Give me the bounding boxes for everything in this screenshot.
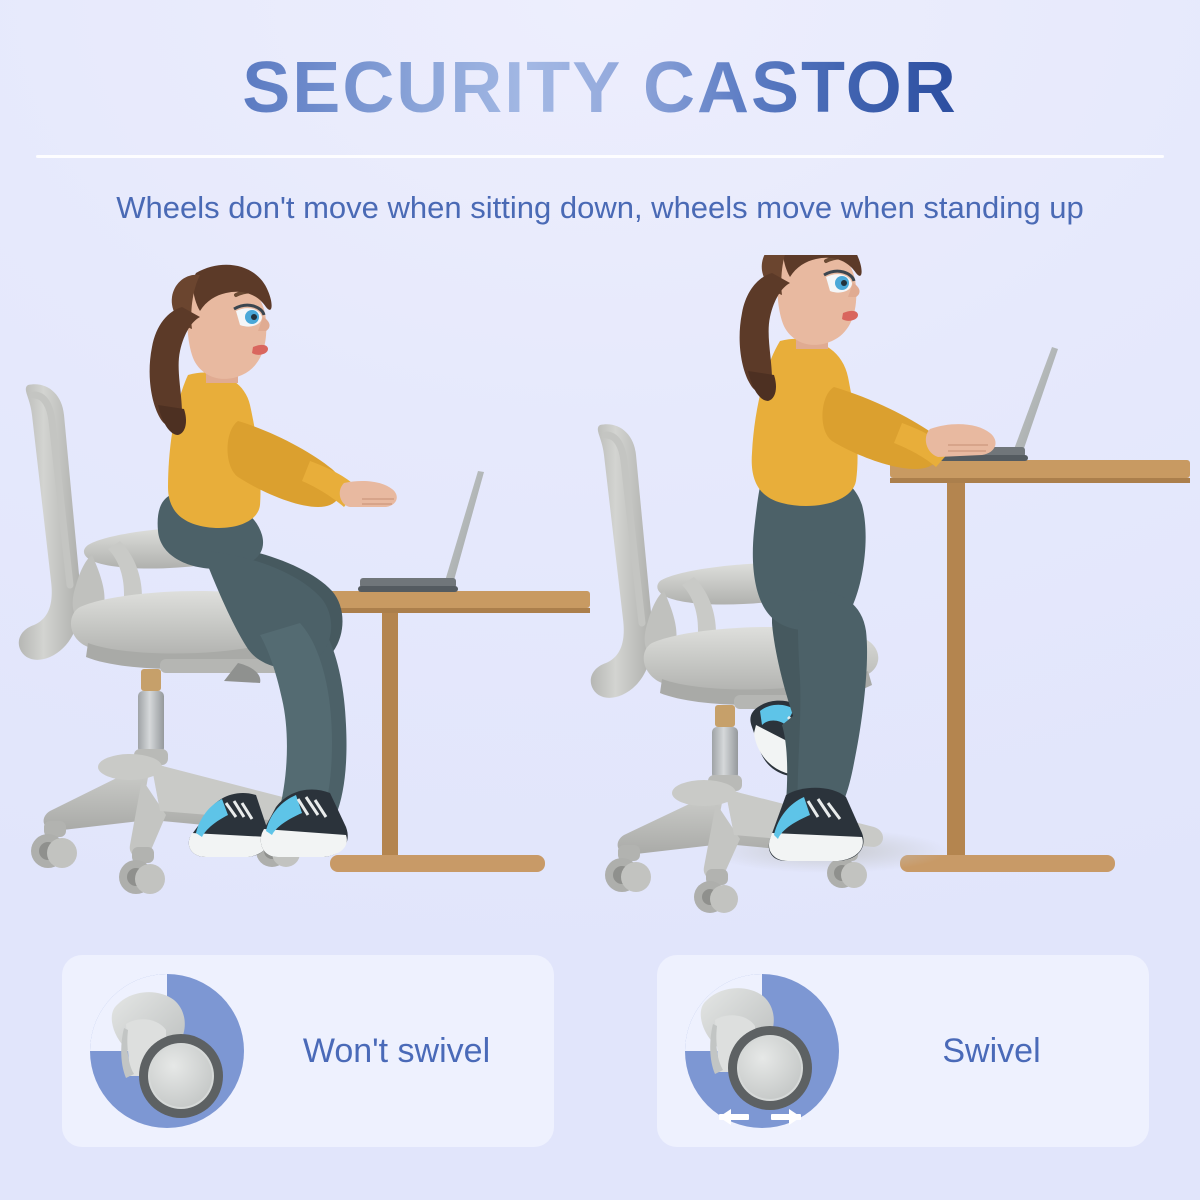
caster-wheel-swivel-icon <box>675 964 850 1139</box>
standing-scene <box>590 255 1190 935</box>
caster-comparison-cards: Won't swivel <box>0 950 1200 1160</box>
chair-backrest-sitting <box>19 384 81 660</box>
desk-standing <box>890 460 1190 872</box>
illustration-area <box>0 255 1200 935</box>
swivel-card[interactable]: Swivel <box>657 955 1149 1147</box>
caster-wheel <box>694 869 738 913</box>
header-divider <box>36 155 1164 158</box>
caster-wheel-locked-icon <box>80 964 255 1139</box>
hand <box>340 481 397 507</box>
sitting-scene <box>10 255 590 935</box>
desk-sitting <box>315 591 590 872</box>
chair-cylinder-standing <box>708 705 742 791</box>
header: SECURITY CASTOR Wheels don't move when s… <box>0 0 1200 250</box>
shoe-front-standing <box>769 788 864 861</box>
person-sitting <box>150 265 397 857</box>
hand-standing <box>926 424 996 457</box>
swivel-label: Swivel <box>850 1032 1149 1071</box>
wont-swivel-label: Won't swivel <box>255 1032 554 1071</box>
page-title: SECURITY CASTOR <box>0 52 1200 124</box>
chair-backrest-standing <box>591 424 653 698</box>
wont-swivel-card[interactable]: Won't swivel <box>62 955 554 1147</box>
chair-cylinder-sitting <box>134 669 168 765</box>
caster-wheel <box>119 847 165 894</box>
page-subtitle: Wheels don't move when sitting down, whe… <box>0 190 1200 226</box>
